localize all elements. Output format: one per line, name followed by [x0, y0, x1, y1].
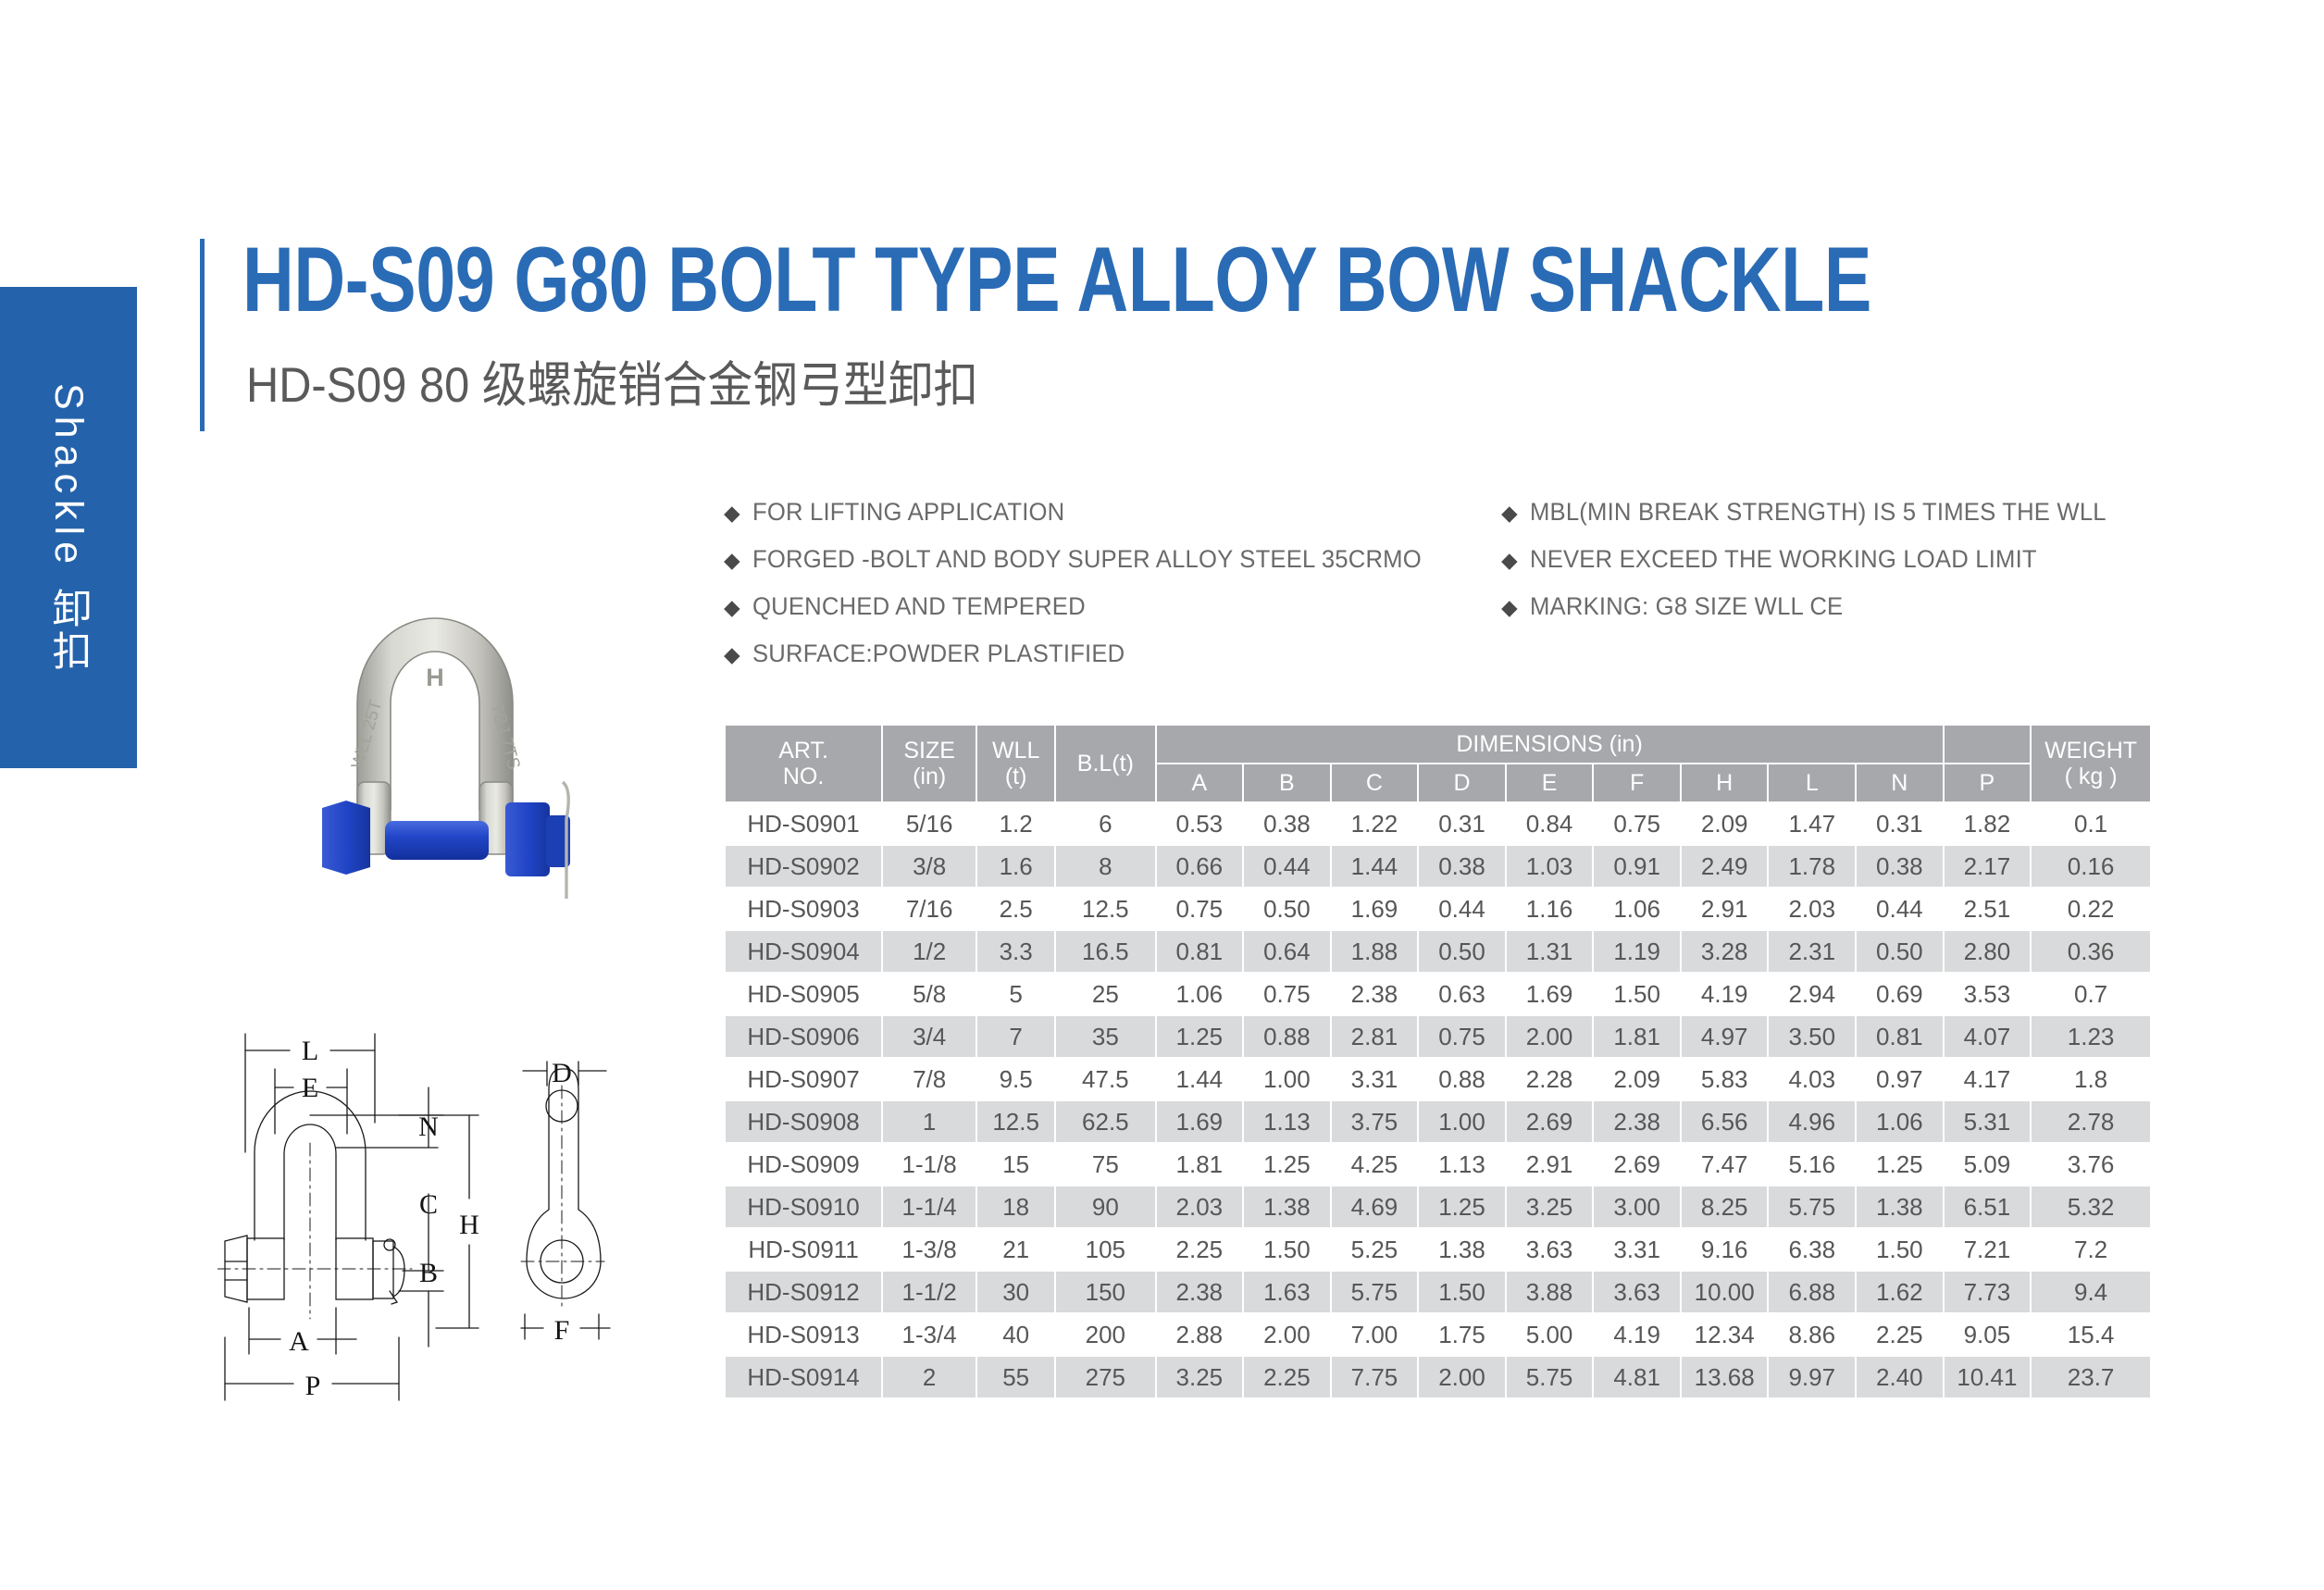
table-col-header-dim-N: N [1857, 764, 1943, 801]
table-cell-B: 1.25 [1244, 1144, 1330, 1185]
table-cell-C: 2.38 [1332, 974, 1418, 1014]
table-cell-D: 0.88 [1419, 1059, 1505, 1099]
col-header-line2: (t) [979, 764, 1052, 789]
table-cell-N: 0.38 [1857, 846, 1943, 887]
table-cell-weight: 0.22 [2032, 888, 2150, 929]
table-cell-H: 6.56 [1682, 1101, 1768, 1142]
table-cell-D: 1.00 [1419, 1101, 1505, 1142]
table-cell-L: 4.03 [1769, 1059, 1855, 1099]
table-cell-bl: 47.5 [1056, 1059, 1154, 1099]
table-cell-E: 1.16 [1507, 888, 1593, 929]
table-row: HD-S09037/162.512.50.750.501.690.441.161… [726, 888, 2150, 929]
diamond-bullet-icon: ◆ [1501, 597, 1518, 618]
table-cell-D: 0.50 [1419, 931, 1505, 972]
table-cell-A: 0.53 [1157, 803, 1243, 844]
table-col-header-dim-D: D [1419, 764, 1505, 801]
table-row: HD-S09142552753.252.257.752.005.754.8113… [726, 1357, 2150, 1397]
table-col-header-dim-L: L [1769, 764, 1855, 801]
table-col-header-art: ART.NO. [726, 726, 881, 801]
table-cell-art: HD-S0905 [726, 974, 881, 1014]
table-cell-bl: 25 [1056, 974, 1154, 1014]
table-cell-weight: 2.78 [2032, 1101, 2150, 1142]
marking-top: H [426, 664, 444, 691]
feature-bullet: ◆FORGED -BOLT AND BODY SUPER ALLOY STEEL… [724, 545, 1457, 574]
dim-label-A: A [289, 1326, 309, 1357]
table-cell-D: 0.31 [1419, 803, 1505, 844]
table-cell-bl: 275 [1056, 1357, 1154, 1397]
diamond-bullet-icon: ◆ [1501, 503, 1518, 524]
table-cell-art: HD-S0901 [726, 803, 881, 844]
diamond-bullet-icon: ◆ [724, 644, 740, 665]
col-header-line1: WEIGHT [2033, 738, 2148, 764]
table-cell-N: 0.97 [1857, 1059, 1943, 1099]
table-cell-H: 2.91 [1682, 888, 1768, 929]
table-cell-D: 0.75 [1419, 1016, 1505, 1057]
table-cell-E: 3.63 [1507, 1229, 1593, 1270]
table-cell-E: 0.84 [1507, 803, 1593, 844]
table-cell-bl: 8 [1056, 846, 1154, 887]
table-cell-B: 1.13 [1244, 1101, 1330, 1142]
table-col-header-dim-C: C [1332, 764, 1418, 801]
table-cell-A: 1.25 [1157, 1016, 1243, 1057]
table-cell-F: 2.38 [1594, 1101, 1680, 1142]
dim-label-D: D [552, 1058, 572, 1088]
table-cell-L: 1.78 [1769, 846, 1855, 887]
shackle-nut-left [322, 801, 370, 875]
table-col-header-dim-P: P [1945, 764, 2031, 801]
technical-drawing-svg: L E N C H B A P D F [217, 1013, 736, 1411]
feature-bullet-text: MBL(MIN BREAK STRENGTH) IS 5 TIMES THE W… [1530, 498, 2107, 527]
table-cell-F: 0.75 [1594, 803, 1680, 844]
table-cell-wll: 1.2 [977, 803, 1054, 844]
table-cell-B: 0.44 [1244, 846, 1330, 887]
col-header-line1: ART. [727, 738, 879, 764]
feature-bullet-text: FOR LIFTING APPLICATION [752, 498, 1064, 527]
table-cell-P: 3.53 [1945, 974, 2031, 1014]
dimension-labels: L E N C H B A P D F [289, 1036, 572, 1401]
col-header-line2: NO. [727, 764, 879, 789]
table-cell-H: 2.09 [1682, 803, 1768, 844]
table-cell-H: 7.47 [1682, 1144, 1768, 1185]
table-col-header-dim-B: B [1244, 764, 1330, 801]
table-cell-bl: 150 [1056, 1272, 1154, 1312]
table-cell-art: HD-S0907 [726, 1059, 881, 1099]
table-cell-E: 3.25 [1507, 1186, 1593, 1227]
technical-drawing: L E N C H B A P D F [217, 1013, 736, 1411]
table-cell-P: 6.51 [1945, 1186, 2031, 1227]
table-cell-weight: 3.76 [2032, 1144, 2150, 1185]
table-cell-size: 1/2 [883, 931, 976, 972]
table-cell-bl: 6 [1056, 803, 1154, 844]
table-cell-P: 2.80 [1945, 931, 2031, 972]
table-row: HD-S09091-1/815751.811.254.251.132.912.6… [726, 1144, 2150, 1185]
shackle-bolt-shaft [385, 821, 489, 860]
table-cell-size: 7/8 [883, 1059, 976, 1099]
table-cell-D: 0.38 [1419, 846, 1505, 887]
table-cell-E: 3.88 [1507, 1272, 1593, 1312]
table-cell-P: 2.51 [1945, 888, 2031, 929]
table-cell-H: 9.16 [1682, 1229, 1768, 1270]
table-cell-weight: 1.8 [2032, 1059, 2150, 1099]
feature-list-right: ◆MBL(MIN BREAK STRENGTH) IS 5 TIMES THE … [1501, 498, 2136, 640]
table-row: HD-S09077/89.547.51.441.003.310.882.282.… [726, 1059, 2150, 1099]
table-cell-wll: 2.5 [977, 888, 1054, 929]
table-cell-art: HD-S0914 [726, 1357, 881, 1397]
table-cell-N: 0.81 [1857, 1016, 1943, 1057]
table-row: HD-S09131-3/4402002.882.007.001.755.004.… [726, 1314, 2150, 1355]
table-cell-H: 12.34 [1682, 1314, 1768, 1355]
table-row: HD-S09101-1/418902.031.384.691.253.253.0… [726, 1186, 2150, 1227]
table-cell-C: 1.22 [1332, 803, 1418, 844]
dim-label-P: P [305, 1371, 321, 1401]
feature-bullet: ◆NEVER EXCEED THE WORKING LOAD LIMIT [1501, 545, 2136, 574]
table-cell-A: 2.03 [1157, 1186, 1243, 1227]
table-cell-C: 2.81 [1332, 1016, 1418, 1057]
table-cell-weight: 23.7 [2032, 1357, 2150, 1397]
diamond-bullet-icon: ◆ [724, 597, 740, 618]
table-cell-P: 2.17 [1945, 846, 2031, 887]
table-cell-B: 0.64 [1244, 931, 1330, 972]
table-header-row-1: ART.NO.SIZE(in)WLL(t)B.L(t)DIMENSIONS (i… [726, 726, 2150, 763]
table-cell-art: HD-S0904 [726, 931, 881, 972]
table-cell-size: 5/8 [883, 974, 976, 1014]
table-col-header-wll: WLL(t) [977, 726, 1054, 801]
table-cell-D: 1.38 [1419, 1229, 1505, 1270]
table-cell-wll: 15 [977, 1144, 1054, 1185]
table-cell-bl: 62.5 [1056, 1101, 1154, 1142]
table-cell-C: 7.75 [1332, 1357, 1418, 1397]
table-cell-size: 1-1/4 [883, 1186, 976, 1227]
table-cell-D: 1.25 [1419, 1186, 1505, 1227]
table-cell-P: 7.73 [1945, 1272, 2031, 1312]
table-cell-P: 1.82 [1945, 803, 2031, 844]
dim-label-E: E [302, 1073, 318, 1103]
table-cell-B: 2.00 [1244, 1314, 1330, 1355]
table-cell-art: HD-S0909 [726, 1144, 881, 1185]
table-cell-weight: 7.2 [2032, 1229, 2150, 1270]
sidebar-label-en: Shackle [46, 383, 91, 570]
table-cell-weight: 5.32 [2032, 1186, 2150, 1227]
col-header-line1: SIZE [885, 738, 974, 764]
table-cell-L: 5.16 [1769, 1144, 1855, 1185]
table-cell-D: 1.50 [1419, 1272, 1505, 1312]
table-cell-B: 0.38 [1244, 803, 1330, 844]
table-cell-art: HD-S0913 [726, 1314, 881, 1355]
table-cell-weight: 0.7 [2032, 974, 2150, 1014]
shackle-bolt-head [505, 802, 550, 876]
table-cell-F: 0.91 [1594, 846, 1680, 887]
table-cell-art: HD-S0910 [726, 1186, 881, 1227]
sidebar-category-label: Shackle 卸扣 [40, 383, 97, 673]
table-cell-C: 1.44 [1332, 846, 1418, 887]
table-cell-B: 2.25 [1244, 1357, 1330, 1397]
table-cell-art: HD-S0903 [726, 888, 881, 929]
table-cell-C: 4.69 [1332, 1186, 1418, 1227]
feature-bullet-text: FORGED -BOLT AND BODY SUPER ALLOY STEEL … [752, 545, 1422, 574]
table-cell-size: 3/4 [883, 1016, 976, 1057]
table-cell-H: 13.68 [1682, 1357, 1768, 1397]
table-cell-H: 10.00 [1682, 1272, 1768, 1312]
table-cell-E: 2.28 [1507, 1059, 1593, 1099]
table-cell-size: 2 [883, 1357, 976, 1397]
table-cell-A: 0.66 [1157, 846, 1243, 887]
table-cell-F: 4.81 [1594, 1357, 1680, 1397]
table-cell-B: 0.50 [1244, 888, 1330, 929]
table-cell-wll: 40 [977, 1314, 1054, 1355]
table-row: HD-S09111-3/8211052.251.505.251.383.633.… [726, 1229, 2150, 1270]
table-cell-B: 1.63 [1244, 1272, 1330, 1312]
feature-bullet-text: QUENCHED AND TEMPERED [752, 592, 1086, 621]
table-cell-A: 0.75 [1157, 888, 1243, 929]
table-cell-F: 1.19 [1594, 931, 1680, 972]
feature-bullet: ◆QUENCHED AND TEMPERED [724, 592, 1457, 621]
table-col-header-dim-F: F [1594, 764, 1680, 801]
table-cell-A: 2.38 [1157, 1272, 1243, 1312]
table-cell-E: 5.75 [1507, 1357, 1593, 1397]
feature-bullet: ◆MARKING: G8 SIZE WLL CE [1501, 592, 2136, 621]
table-cell-wll: 1.6 [977, 846, 1054, 887]
diamond-bullet-icon: ◆ [724, 503, 740, 524]
table-cell-L: 4.96 [1769, 1101, 1855, 1142]
table-cell-art: HD-S0911 [726, 1229, 881, 1270]
table-cell-A: 1.06 [1157, 974, 1243, 1014]
table-cell-D: 0.63 [1419, 974, 1505, 1014]
title-accent-rule [200, 239, 205, 431]
sidebar-label-cn: 卸扣 [46, 587, 91, 672]
table-cell-P: 9.05 [1945, 1314, 2031, 1355]
table-cell-wll: 18 [977, 1186, 1054, 1227]
dim-label-L: L [302, 1036, 318, 1066]
table-cell-bl: 200 [1056, 1314, 1154, 1355]
table-cell-L: 1.47 [1769, 803, 1855, 844]
feature-bullet-text: SURFACE:POWDER PLASTIFIED [752, 640, 1125, 668]
col-header-line1: WLL [979, 738, 1052, 764]
feature-bullet: ◆FOR LIFTING APPLICATION [724, 498, 1457, 527]
table-cell-N: 0.44 [1857, 888, 1943, 929]
table-cell-H: 4.19 [1682, 974, 1768, 1014]
table-cell-art: HD-S0902 [726, 846, 881, 887]
table-cell-bl: 75 [1056, 1144, 1154, 1185]
table-cell-H: 5.83 [1682, 1059, 1768, 1099]
table-cell-F: 3.63 [1594, 1272, 1680, 1312]
table-cell-P: 4.17 [1945, 1059, 2031, 1099]
table-cell-art: HD-S0908 [726, 1101, 881, 1142]
table-cell-B: 0.75 [1244, 974, 1330, 1014]
table-cell-weight: 15.4 [2032, 1314, 2150, 1355]
table-row: HD-S09023/81.680.660.441.440.381.030.912… [726, 846, 2150, 887]
table-cell-N: 0.31 [1857, 803, 1943, 844]
table-cell-H: 8.25 [1682, 1186, 1768, 1227]
table-cell-size: 3/8 [883, 846, 976, 887]
table-cell-bl: 12.5 [1056, 888, 1154, 929]
table-cell-C: 5.25 [1332, 1229, 1418, 1270]
table-cell-wll: 12.5 [977, 1101, 1054, 1142]
table-cell-F: 1.50 [1594, 974, 1680, 1014]
product-photo: H WLL 25T TBJ 7TS [268, 504, 602, 912]
dim-label-C: C [419, 1189, 438, 1220]
table-cell-N: 0.50 [1857, 931, 1943, 972]
table-cell-L: 9.97 [1769, 1357, 1855, 1397]
table-cell-E: 1.03 [1507, 846, 1593, 887]
table-row: HD-S09015/161.260.530.381.220.310.840.75… [726, 803, 2150, 844]
table-cell-N: 1.06 [1857, 1101, 1943, 1142]
table-cell-L: 8.86 [1769, 1314, 1855, 1355]
specification-table: ART.NO.SIZE(in)WLL(t)B.L(t)DIMENSIONS (i… [724, 724, 2152, 1399]
table-cell-B: 1.00 [1244, 1059, 1330, 1099]
table-cell-L: 3.50 [1769, 1016, 1855, 1057]
table-cell-weight: 1.23 [2032, 1016, 2150, 1057]
table-cell-art: HD-S0906 [726, 1016, 881, 1057]
table-cell-art: HD-S0912 [726, 1272, 881, 1312]
table-row: HD-S09121-1/2301502.381.635.751.503.883.… [726, 1272, 2150, 1312]
col-header-line2: ( kg ) [2033, 764, 2148, 789]
table-cell-L: 6.88 [1769, 1272, 1855, 1312]
dim-label-F: F [554, 1315, 570, 1346]
table-col-header-dim-E: E [1507, 764, 1593, 801]
table-cell-size: 1-1/8 [883, 1144, 976, 1185]
table-cell-N: 1.62 [1857, 1272, 1943, 1312]
table-cell-E: 2.00 [1507, 1016, 1593, 1057]
table-row: HD-S09041/23.316.50.810.641.880.501.311.… [726, 931, 2150, 972]
table-cell-D: 1.75 [1419, 1314, 1505, 1355]
feature-bullet-text: NEVER EXCEED THE WORKING LOAD LIMIT [1530, 545, 2037, 574]
dim-label-N: N [418, 1112, 439, 1142]
table-cell-A: 2.88 [1157, 1314, 1243, 1355]
table-col-header-size: SIZE(in) [883, 726, 976, 801]
table-cell-size: 1-3/4 [883, 1314, 976, 1355]
table-cell-H: 3.28 [1682, 931, 1768, 972]
table-col-header-weight: WEIGHT( kg ) [2032, 726, 2150, 801]
table-cell-P: 10.41 [1945, 1357, 2031, 1397]
feature-list-left: ◆FOR LIFTING APPLICATION◆FORGED -BOLT AN… [724, 498, 1457, 687]
table-cell-F: 3.00 [1594, 1186, 1680, 1227]
table-cell-F: 3.31 [1594, 1229, 1680, 1270]
table-cell-P: 4.07 [1945, 1016, 2031, 1057]
table-cell-L: 5.75 [1769, 1186, 1855, 1227]
table-cell-L: 2.03 [1769, 888, 1855, 929]
table-col-header-dim-A: A [1157, 764, 1243, 801]
table-cell-F: 4.19 [1594, 1314, 1680, 1355]
table-cell-E: 5.00 [1507, 1314, 1593, 1355]
table-cell-N: 2.40 [1857, 1357, 1943, 1397]
table-cell-P: 5.31 [1945, 1101, 2031, 1142]
table-cell-E: 1.69 [1507, 974, 1593, 1014]
feature-bullet: ◆MBL(MIN BREAK STRENGTH) IS 5 TIMES THE … [1501, 498, 2136, 527]
table-cell-E: 1.31 [1507, 931, 1593, 972]
table-row: HD-S0908112.562.51.691.133.751.002.692.3… [726, 1101, 2150, 1142]
table-cell-C: 5.75 [1332, 1272, 1418, 1312]
table-cell-H: 4.97 [1682, 1016, 1768, 1057]
table-cell-C: 3.75 [1332, 1101, 1418, 1142]
table-cell-A: 1.81 [1157, 1144, 1243, 1185]
table-cell-N: 0.69 [1857, 974, 1943, 1014]
table-cell-L: 2.94 [1769, 974, 1855, 1014]
table-cell-bl: 16.5 [1056, 931, 1154, 972]
table-cell-L: 6.38 [1769, 1229, 1855, 1270]
table-cell-size: 5/16 [883, 803, 976, 844]
table-cell-D: 0.44 [1419, 888, 1505, 929]
table-cell-bl: 105 [1056, 1229, 1154, 1270]
table-cell-size: 7/16 [883, 888, 976, 929]
table-cell-B: 1.38 [1244, 1186, 1330, 1227]
dim-label-B: B [419, 1258, 438, 1288]
table-cell-H: 2.49 [1682, 846, 1768, 887]
feature-bullet: ◆SURFACE:POWDER PLASTIFIED [724, 640, 1457, 668]
table-row: HD-S09063/47351.250.882.810.752.001.814.… [726, 1016, 2150, 1057]
table-cell-A: 3.25 [1157, 1357, 1243, 1397]
table-cell-F: 2.69 [1594, 1144, 1680, 1185]
table-cell-F: 1.06 [1594, 888, 1680, 929]
specification-table-wrapper: ART.NO.SIZE(in)WLL(t)B.L(t)DIMENSIONS (i… [724, 724, 2152, 1399]
page-title: HD-S09 G80 BOLT TYPE ALLOY BOW SHACKLE [242, 233, 1871, 325]
table-cell-C: 7.00 [1332, 1314, 1418, 1355]
table-cell-C: 1.88 [1332, 931, 1418, 972]
table-cell-P: 7.21 [1945, 1229, 2031, 1270]
table-col-header-dim-H: H [1682, 764, 1768, 801]
diamond-bullet-icon: ◆ [1501, 550, 1518, 571]
table-cell-N: 2.25 [1857, 1314, 1943, 1355]
table-col-header-bl: B.L(t) [1056, 726, 1154, 801]
table-cell-weight: 0.1 [2032, 803, 2150, 844]
table-group-header-blank [1945, 726, 2031, 763]
table-cell-L: 2.31 [1769, 931, 1855, 972]
sidebar-category-tab[interactable]: Shackle 卸扣 [0, 287, 137, 768]
col-header-line2: (in) [885, 764, 974, 789]
table-cell-P: 5.09 [1945, 1144, 2031, 1185]
table-cell-wll: 7 [977, 1016, 1054, 1057]
diamond-bullet-icon: ◆ [724, 550, 740, 571]
table-cell-weight: 0.16 [2032, 846, 2150, 887]
table-cell-C: 3.31 [1332, 1059, 1418, 1099]
table-group-header-dimensions: DIMENSIONS (in) [1157, 726, 1943, 763]
table-cell-size: 1 [883, 1101, 976, 1142]
table-cell-N: 1.38 [1857, 1186, 1943, 1227]
table-cell-E: 2.91 [1507, 1144, 1593, 1185]
table-cell-weight: 0.36 [2032, 931, 2150, 972]
table-cell-F: 1.81 [1594, 1016, 1680, 1057]
table-cell-wll: 9.5 [977, 1059, 1054, 1099]
table-cell-E: 2.69 [1507, 1101, 1593, 1142]
table-cell-wll: 55 [977, 1357, 1054, 1397]
table-cell-weight: 9.4 [2032, 1272, 2150, 1312]
table-cell-D: 1.13 [1419, 1144, 1505, 1185]
table-header: ART.NO.SIZE(in)WLL(t)B.L(t)DIMENSIONS (i… [726, 726, 2150, 801]
table-cell-wll: 3.3 [977, 931, 1054, 972]
table-cell-size: 1-3/8 [883, 1229, 976, 1270]
table-cell-N: 1.50 [1857, 1229, 1943, 1270]
col-header-line1: B.L(t) [1058, 751, 1152, 776]
page-subtitle: HD-S09 80 级螺旋销合金钢弓型卸扣 [246, 361, 978, 410]
table-cell-bl: 35 [1056, 1016, 1154, 1057]
table-cell-wll: 21 [977, 1229, 1054, 1270]
table-cell-D: 2.00 [1419, 1357, 1505, 1397]
table-cell-A: 2.25 [1157, 1229, 1243, 1270]
table-cell-A: 1.69 [1157, 1101, 1243, 1142]
table-cell-bl: 90 [1056, 1186, 1154, 1227]
table-cell-C: 1.69 [1332, 888, 1418, 929]
table-cell-wll: 30 [977, 1272, 1054, 1312]
table-cell-C: 4.25 [1332, 1144, 1418, 1185]
table-row: HD-S09055/85251.060.752.380.631.691.504.… [726, 974, 2150, 1014]
table-cell-wll: 5 [977, 974, 1054, 1014]
dim-label-H: H [459, 1210, 479, 1240]
table-cell-B: 1.50 [1244, 1229, 1330, 1270]
table-cell-A: 0.81 [1157, 931, 1243, 972]
table-cell-size: 1-1/2 [883, 1272, 976, 1312]
table-body: HD-S09015/161.260.530.381.220.310.840.75… [726, 803, 2150, 1397]
table-cell-A: 1.44 [1157, 1059, 1243, 1099]
table-cell-F: 2.09 [1594, 1059, 1680, 1099]
